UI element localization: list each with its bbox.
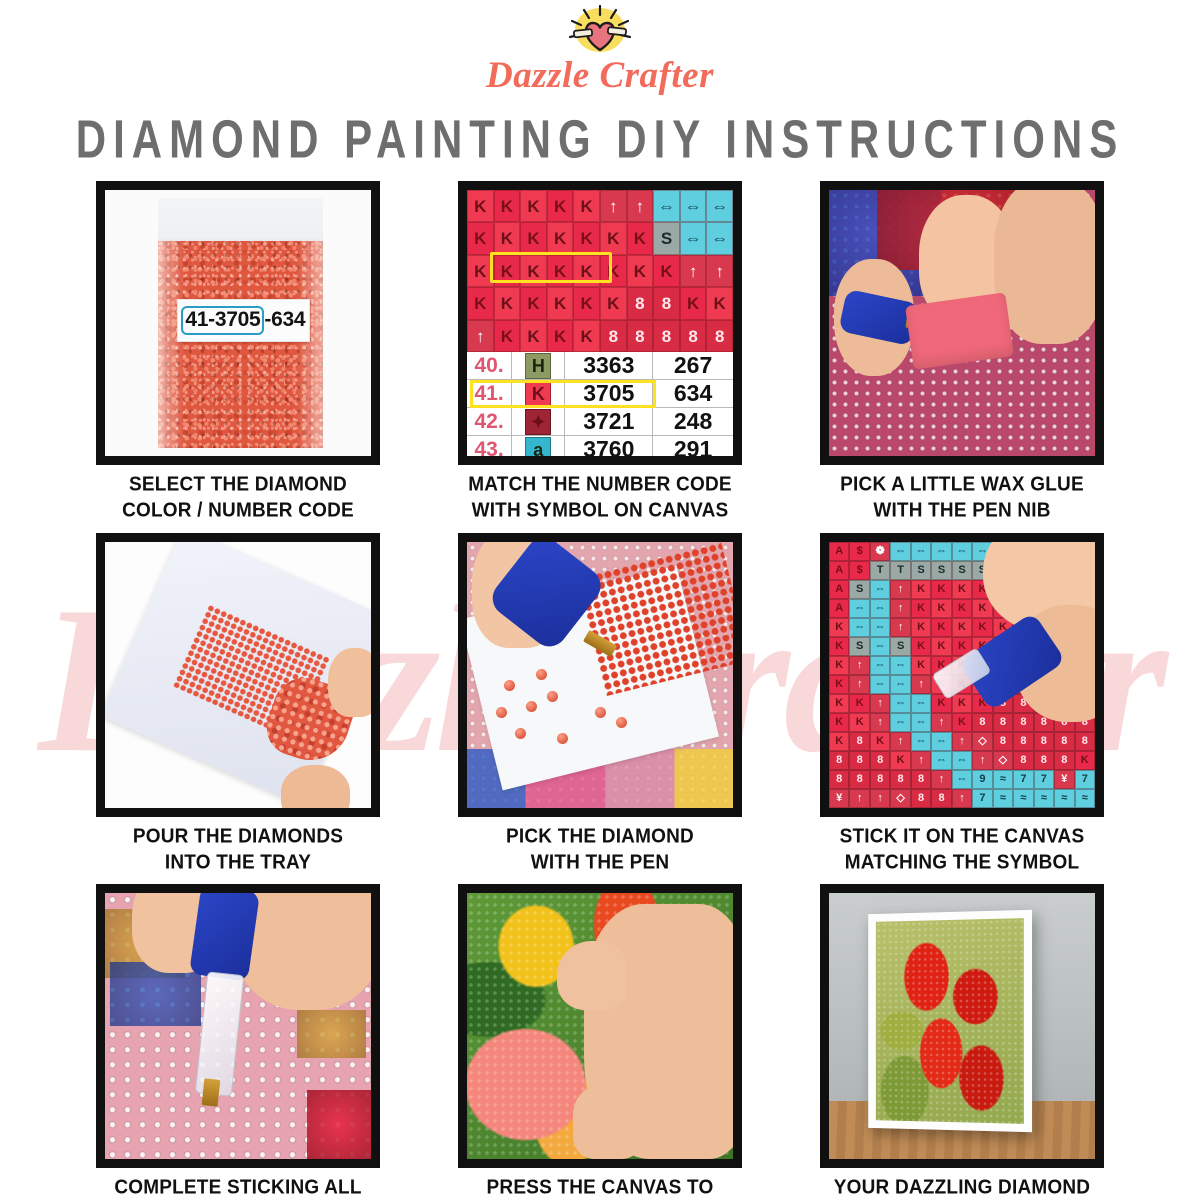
legend-number: 41.: [467, 380, 512, 407]
grid-cell: 7: [972, 789, 992, 808]
grid-cell: ↑: [870, 694, 890, 713]
grid-cell: 8: [1013, 713, 1033, 732]
grid-cell: $: [849, 561, 869, 580]
grid-cell: K: [573, 287, 600, 319]
grid-cell: ↑: [972, 751, 992, 770]
grid-cell: ↑: [931, 770, 951, 789]
grid-cell: ↑: [627, 190, 654, 222]
grid-cell: 8: [849, 732, 869, 751]
legend-row: 41.K3705634: [467, 380, 733, 408]
grid-cell: ¥: [829, 789, 849, 808]
grid-cell: ⇔: [931, 732, 951, 751]
step-2: KKKKK↑↑⇔⇔⇔KKKKKKKS⇔⇔KKKKKKKK↑↑KKKKKK88KK…: [428, 181, 772, 523]
grid-cell: ↑: [911, 675, 931, 694]
grid-cell: K: [494, 255, 521, 287]
grid-cell: ❁: [870, 542, 890, 561]
grid-cell: 8: [911, 770, 931, 789]
grid-cell: 8: [1034, 732, 1054, 751]
grid-cell: ↑: [870, 789, 890, 808]
grid-cell: K: [829, 656, 849, 675]
legend-row: 40.H3363267: [467, 352, 733, 380]
legend-count: 291: [653, 436, 733, 463]
grid-cell: K: [911, 637, 931, 656]
step-8-caption: PRESS THE CANVAS TO FIX ALL DIAMONDS: [487, 1175, 714, 1200]
diamond-tray-photo: [96, 533, 380, 817]
grid-cell: ◇: [993, 751, 1013, 770]
grid-cell: ↑: [890, 580, 910, 599]
grid-cell: K: [494, 190, 521, 222]
grid-cell: K: [520, 255, 547, 287]
grid-cell: K: [829, 713, 849, 732]
grid-cell: ⇔: [931, 542, 951, 561]
grid-cell: ≈: [993, 789, 1013, 808]
legend-symbol: H: [512, 352, 565, 379]
grid-cell: ⇔: [870, 618, 890, 637]
grid-cell: ⇔: [911, 713, 931, 732]
grid-cell: A: [829, 542, 849, 561]
grid-cell: K: [849, 694, 869, 713]
grid-cell: 8: [1013, 732, 1033, 751]
grid-cell: 8: [1054, 751, 1074, 770]
grid-cell: 8: [972, 713, 992, 732]
grid-cell: 8: [993, 713, 1013, 732]
grid-cell: A: [829, 599, 849, 618]
caption-line-2: INTO THE TRAY: [133, 850, 343, 876]
grid-cell: ⇔: [911, 694, 931, 713]
step-1-caption: SELECT THE DIAMOND COLOR / NUMBER CODE: [122, 472, 354, 525]
pick-diamond-photo: [458, 533, 742, 817]
finger: [994, 181, 1104, 344]
grid-cell: ⇔: [870, 675, 890, 694]
grid-cell: ↑: [849, 656, 869, 675]
brand-logo: Dazzle Crafter: [0, 4, 1200, 97]
grid-cell: K: [849, 713, 869, 732]
grid-cell: K: [931, 618, 951, 637]
grid-cell: 8: [870, 770, 890, 789]
caption-line-2: WITH THE PEN NIB: [840, 498, 1084, 524]
grid-cell: ↑: [849, 789, 869, 808]
grid-cell: ⇔: [890, 675, 910, 694]
grid-cell: K: [829, 675, 849, 694]
grid-cell: 8: [849, 770, 869, 789]
bag-code-label: 41-3705-634: [177, 299, 310, 342]
grid-cell: ⇔: [849, 599, 869, 618]
grid-cell: ⇔: [890, 713, 910, 732]
grid-cell: S: [931, 561, 951, 580]
grid-cell: ⇔: [931, 751, 951, 770]
grid-cell: K: [494, 320, 521, 352]
grid-cell: 7: [1075, 770, 1095, 789]
grid-cell: K: [467, 255, 494, 287]
grid-cell: K: [467, 190, 494, 222]
step-5-caption: PICK THE DIAMOND WITH THE PEN: [506, 824, 694, 877]
thumb: [328, 648, 380, 717]
grid-cell: K: [890, 751, 910, 770]
color-legend-table: 40.H336326741.K370563442.✦372124843.a376…: [467, 352, 733, 464]
grid-cell: ⇔: [706, 190, 733, 222]
caption-line-2: WITH THE PEN: [506, 850, 694, 876]
step-5: PICK THE DIAMOND WITH THE PEN: [428, 533, 772, 875]
grid-cell: 8: [849, 751, 869, 770]
grid-cell: K: [573, 255, 600, 287]
grid-cell: ⇔: [952, 770, 972, 789]
grid-cell: K: [547, 222, 574, 254]
step-2-caption: MATCH THE NUMBER CODE WITH SYMBOL ON CAN…: [468, 472, 732, 525]
grid-cell: ⇔: [653, 190, 680, 222]
grid-cell: T: [870, 561, 890, 580]
grid-cell: 8: [931, 789, 951, 808]
grid-cell: 8: [653, 320, 680, 352]
grid-cell: K: [931, 637, 951, 656]
complete-sticking-photo: [96, 884, 380, 1168]
caption-line-1: POUR THE DIAMONDS: [133, 824, 343, 850]
legend-symbol: K: [512, 380, 565, 407]
step-8: PRESS THE CANVAS TO FIX ALL DIAMONDS: [428, 884, 772, 1200]
grid-cell: 8: [653, 287, 680, 319]
grid-cell: K: [573, 320, 600, 352]
grid-cell: ⇔: [680, 222, 707, 254]
grid-cell: K: [1075, 751, 1095, 770]
grid-cell: ↑: [890, 599, 910, 618]
grid-cell: 8: [627, 287, 654, 319]
grid-cell: 8: [680, 320, 707, 352]
grid-cell: ⇔: [952, 751, 972, 770]
caption-line-1: COMPLETE STICKING ALL: [114, 1175, 361, 1200]
grid-cell: ⇔: [890, 694, 910, 713]
grid-cell: 8: [706, 320, 733, 352]
grid-cell: S: [890, 637, 910, 656]
grid-cell: K: [520, 190, 547, 222]
grid-cell: $: [849, 542, 869, 561]
grid-cell: ↑: [600, 190, 627, 222]
grid-cell: K: [573, 190, 600, 222]
grid-cell: ≈: [1013, 789, 1033, 808]
step-3: PICK A LITTLE WAX GLUE WITH THE PEN NIB: [790, 181, 1134, 523]
grid-cell: ⇔: [870, 599, 890, 618]
grid-cell: K: [680, 287, 707, 319]
grid-cell: 8: [1054, 732, 1074, 751]
grid-cell: 8: [1034, 751, 1054, 770]
grid-cell: ⇔: [911, 732, 931, 751]
instruction-sheet: DazzleCrafter: [0, 0, 1200, 1200]
grid-cell: K: [600, 222, 627, 254]
press-canvas-photo: [458, 884, 742, 1168]
legend-count: 634: [653, 380, 733, 407]
grid-cell: ≈: [993, 770, 1013, 789]
grid-cell: K: [911, 599, 931, 618]
grid-cell: 8: [829, 751, 849, 770]
pen-nib: [202, 1079, 221, 1107]
bag-code-suffix: -634: [264, 308, 305, 331]
caption-line-1: PICK THE DIAMOND: [506, 824, 694, 850]
canvas-chart-photo: KKKKK↑↑⇔⇔⇔KKKKKKKS⇔⇔KKKKKKKK↑↑KKKKKK88KK…: [458, 181, 742, 465]
finished-art-photo: [820, 884, 1104, 1168]
grid-cell: 8: [829, 770, 849, 789]
grid-cell: K: [952, 599, 972, 618]
legend-number: 42.: [467, 408, 512, 435]
grid-cell: ◇: [890, 789, 910, 808]
grid-cell: 8: [627, 320, 654, 352]
grid-cell: 8: [993, 732, 1013, 751]
grid-cell: S: [653, 222, 680, 254]
step-1: 41-3705-634 SELECT THE DIAMOND COLOR / N…: [66, 181, 410, 523]
grid-cell: K: [547, 255, 574, 287]
grid-cell: 7: [1013, 770, 1033, 789]
grid-cell: K: [520, 320, 547, 352]
grid-cell: ↑: [952, 789, 972, 808]
grid-cell: 9: [972, 770, 992, 789]
step-9: YOUR DAZZLING DIAMOND ART IS FINISHED !: [790, 884, 1134, 1200]
grid-cell: ≈: [1054, 789, 1074, 808]
legend-dmc-code: 3760: [565, 436, 653, 463]
grid-cell: K: [627, 222, 654, 254]
caption-line-2: COLOR / NUMBER CODE: [122, 498, 354, 524]
step-7-caption: COMPLETE STICKING ALL COLOR DIAMONDS: [114, 1175, 361, 1200]
heart-sunburst-icon: [562, 4, 638, 56]
grid-cell: K: [520, 287, 547, 319]
legend-count: 267: [653, 352, 733, 379]
grid-cell: 7: [1034, 770, 1054, 789]
grid-cell: K: [911, 618, 931, 637]
grid-cell: T: [890, 561, 910, 580]
grid-cell: K: [952, 713, 972, 732]
caption-line-1: PRESS THE CANVAS TO: [487, 1175, 714, 1200]
grid-cell: K: [829, 637, 849, 656]
legend-row: 42.✦3721248: [467, 408, 733, 436]
grid-cell: K: [494, 222, 521, 254]
grid-cell: K: [911, 580, 931, 599]
grid-cell: S: [911, 561, 931, 580]
grid-cell: ¥: [1054, 770, 1074, 789]
pinky-finger: [573, 1085, 642, 1159]
grid-cell: 8: [1013, 751, 1033, 770]
grid-cell: ↑: [870, 713, 890, 732]
grid-cell: K: [706, 287, 733, 319]
grid-cell: 8: [600, 320, 627, 352]
step-3-caption: PICK A LITTLE WAX GLUE WITH THE PEN NIB: [840, 472, 1084, 525]
diamond-bag-photo: 41-3705-634: [96, 181, 380, 465]
bag-shine: [158, 241, 323, 448]
grid-cell: ↑: [911, 751, 931, 770]
step-6-caption: STICK IT ON THE CANVAS MATCHING THE SYMB…: [840, 824, 1085, 877]
grid-cell: S: [849, 637, 869, 656]
grid-cell: ⇔: [706, 222, 733, 254]
grid-cell: ↑: [890, 618, 910, 637]
grid-cell: ⇔: [870, 580, 890, 599]
grid-cell: 8: [1075, 732, 1095, 751]
grid-cell: K: [952, 694, 972, 713]
grid-cell: K: [829, 732, 849, 751]
grid-cell: K: [931, 580, 951, 599]
grid-cell: ⇔: [911, 542, 931, 561]
grid-cell: K: [911, 656, 931, 675]
legend-dmc-code: 3705: [565, 380, 653, 407]
caption-line-1: PICK A LITTLE WAX GLUE: [840, 472, 1084, 498]
grid-cell: ↑: [931, 713, 951, 732]
legend-number: 43.: [467, 436, 512, 463]
bag-code-highlight: 41-3705: [181, 306, 264, 335]
legend-symbol: ✦: [512, 408, 565, 435]
red-bead-region: [307, 1090, 371, 1159]
grid-cell: K: [600, 287, 627, 319]
wax-glue-photo: [820, 181, 1104, 465]
canvas-symbol-grid: KKKKK↑↑⇔⇔⇔KKKKKKKS⇔⇔KKKKKKKK↑↑KKKKKK88KK…: [467, 190, 733, 352]
grid-cell: K: [829, 618, 849, 637]
grid-cell: K: [547, 190, 574, 222]
grid-cell: 8: [890, 770, 910, 789]
grid-cell: K: [547, 287, 574, 319]
grid-cell: ≈: [1075, 789, 1095, 808]
grid-cell: ↑: [706, 255, 733, 287]
grid-cell: ↑: [952, 732, 972, 751]
grid-cell: ⇔: [890, 656, 910, 675]
step-4-caption: POUR THE DIAMONDS INTO THE TRAY: [133, 824, 343, 877]
grid-cell: A: [829, 561, 849, 580]
step-6: A$❁⇔⇔⇔⇔⇔⇔⇔↑KKA$TTSSSSS⇔⇔SKAS⇔↑KKKK↑⇔⇔KKA…: [790, 533, 1134, 875]
legend-dmc-code: 3363: [565, 352, 653, 379]
legend-row: 43.a3760291: [467, 436, 733, 464]
poppy-diamond-art: [876, 918, 1024, 1124]
grid-cell: K: [547, 320, 574, 352]
grid-cell: K: [520, 222, 547, 254]
grid-cell: A: [829, 580, 849, 599]
grid-cell: K: [931, 599, 951, 618]
grid-cell: K: [600, 255, 627, 287]
legend-number: 40.: [467, 352, 512, 379]
grid-cell: K: [952, 580, 972, 599]
grid-cell: ⇔: [870, 656, 890, 675]
grid-cell: ↑: [890, 732, 910, 751]
grid-cell: ↑: [849, 675, 869, 694]
page-header: Dazzle Crafter DIAMOND PAINTING DIY INST…: [0, 0, 1200, 157]
grid-cell: K: [494, 287, 521, 319]
legend-count: 248: [653, 408, 733, 435]
grid-cell: K: [653, 255, 680, 287]
grid-cell: ⇔: [849, 618, 869, 637]
steps-grid: 41-3705-634 SELECT THE DIAMOND COLOR / N…: [0, 181, 1200, 1200]
caption-line-1: YOUR DAZZLING DIAMOND: [834, 1175, 1090, 1200]
grid-cell: ⇔: [870, 637, 890, 656]
grid-cell: 8: [911, 789, 931, 808]
legend-symbol: a: [512, 436, 565, 463]
stick-canvas-photo: A$❁⇔⇔⇔⇔⇔⇔⇔↑KKA$TTSSSSS⇔⇔SKAS⇔↑KKKK↑⇔⇔KKA…: [820, 533, 1104, 817]
grid-cell: S: [849, 580, 869, 599]
grid-cell: K: [467, 287, 494, 319]
page-title: DIAMOND PAINTING DIY INSTRUCTIONS: [0, 109, 1200, 170]
finger: [281, 765, 350, 817]
caption-line-1: STICK IT ON THE CANVAS: [840, 824, 1085, 850]
grid-cell: K: [829, 694, 849, 713]
grid-cell: K: [972, 618, 992, 637]
grid-cell: ⇔: [890, 542, 910, 561]
step-9-caption: YOUR DAZZLING DIAMOND ART IS FINISHED !: [834, 1175, 1090, 1200]
grid-cell: ⇔: [680, 190, 707, 222]
index-finger: [557, 941, 626, 1010]
grid-cell: ↑: [467, 320, 494, 352]
grid-cell: ◇: [972, 732, 992, 751]
grid-cell: ↑: [680, 255, 707, 287]
legend-dmc-code: 3721: [565, 408, 653, 435]
grid-cell: K: [573, 222, 600, 254]
caption-line-1: SELECT THE DIAMOND: [122, 472, 354, 498]
grid-cell: K: [952, 618, 972, 637]
caption-line-2: MATCHING THE SYMBOL: [840, 850, 1085, 876]
grid-cell: ≈: [1034, 789, 1054, 808]
picture-frame: [868, 910, 1032, 1133]
gold-bead-region-2: [297, 1010, 366, 1058]
grid-cell: K: [870, 732, 890, 751]
grid-cell: ⇔: [952, 542, 972, 561]
grid-cell: S: [952, 561, 972, 580]
grid-cell: K: [627, 255, 654, 287]
grid-cell: 8: [870, 751, 890, 770]
step-4: POUR THE DIAMONDS INTO THE TRAY: [66, 533, 410, 875]
step-7: COMPLETE STICKING ALL COLOR DIAMONDS: [66, 884, 410, 1200]
brand-name: Dazzle Crafter: [486, 54, 714, 97]
caption-line-1: MATCH THE NUMBER CODE: [468, 472, 732, 498]
caption-line-2: WITH SYMBOL ON CANVAS: [468, 498, 732, 524]
grid-cell: K: [467, 222, 494, 254]
